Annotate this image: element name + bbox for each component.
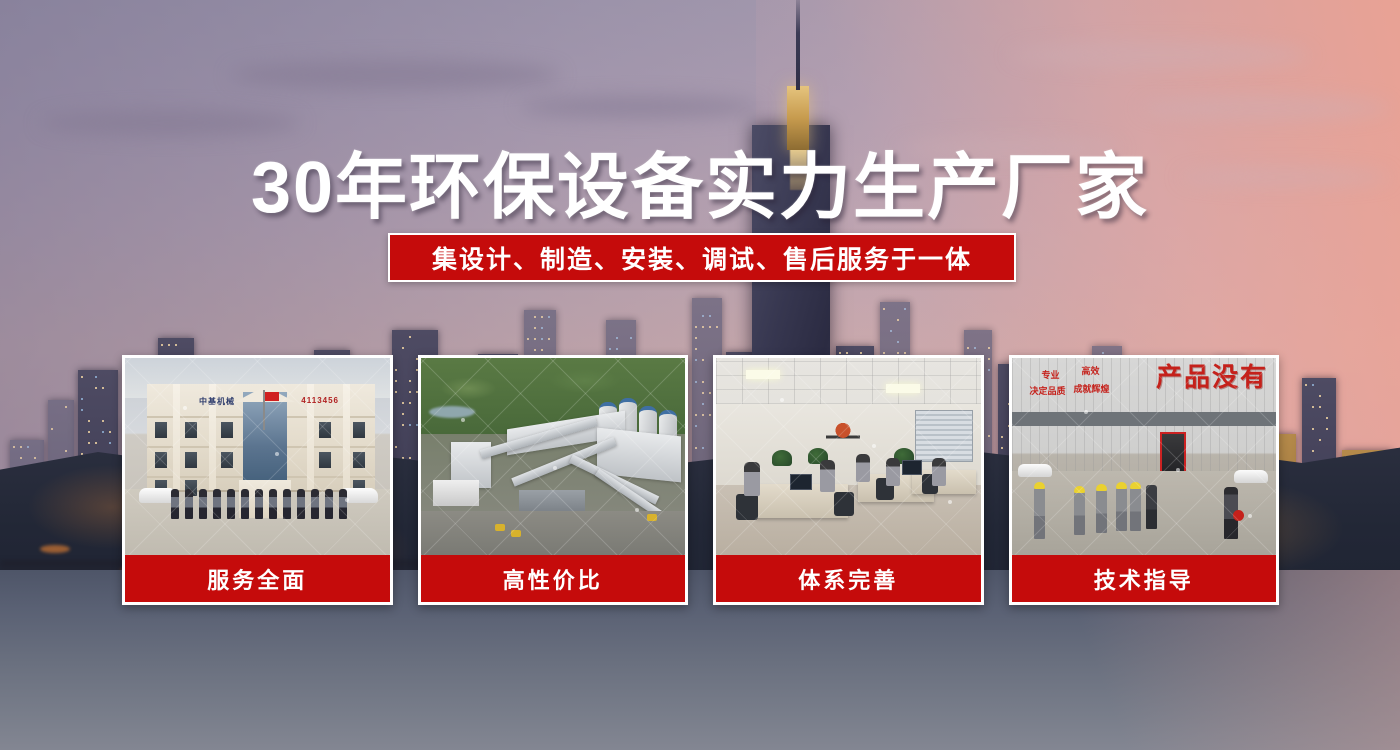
feature-card-guidance[interactable]: 产品没有 专业 决定品质 高效 成就辉煌	[1009, 355, 1280, 605]
card-label-service: 服务全面	[125, 555, 390, 602]
building-phone-number: 4113456	[301, 396, 339, 405]
building-sign-text: 中基机械	[199, 396, 235, 407]
card-label-system: 体系完善	[716, 555, 981, 602]
card-photo-workers: 产品没有 专业 决定品质 高效 成就辉煌	[1012, 358, 1277, 555]
card-label-value: 高性价比	[421, 555, 686, 602]
hero-banner: 30年环保设备实力生产厂家 集设计、制造、安装、调试、售后服务于一体	[0, 0, 1400, 750]
subtitle-text: 集设计、制造、安装、调试、售后服务于一体	[432, 240, 972, 276]
subtitle-banner: 集设计、制造、安装、调试、售后服务于一体	[388, 233, 1016, 282]
feature-card-service[interactable]: 中基机械 4113456	[122, 355, 393, 605]
tower-spire	[796, 0, 800, 90]
factory-slogan-main: 产品没有	[1156, 364, 1268, 390]
factory-slogan-c: 高效	[1082, 366, 1100, 376]
feature-card-list: 中基机械 4113456	[122, 355, 1279, 605]
card-photo-company-building: 中基机械 4113456	[125, 358, 390, 555]
card-photo-office	[716, 358, 981, 555]
card-photo-plant-aerial	[421, 358, 686, 555]
factory-slogan-d: 成就辉煌	[1074, 384, 1110, 394]
factory-slogan-a: 专业	[1042, 370, 1060, 380]
feature-card-system[interactable]: 体系完善	[713, 355, 984, 605]
feature-card-value[interactable]: 高性价比	[418, 355, 689, 605]
factory-slogan-b: 决定品质	[1030, 386, 1066, 396]
page-title: 30年环保设备实力生产厂家	[0, 128, 1400, 233]
card-label-guidance: 技术指导	[1012, 555, 1277, 602]
